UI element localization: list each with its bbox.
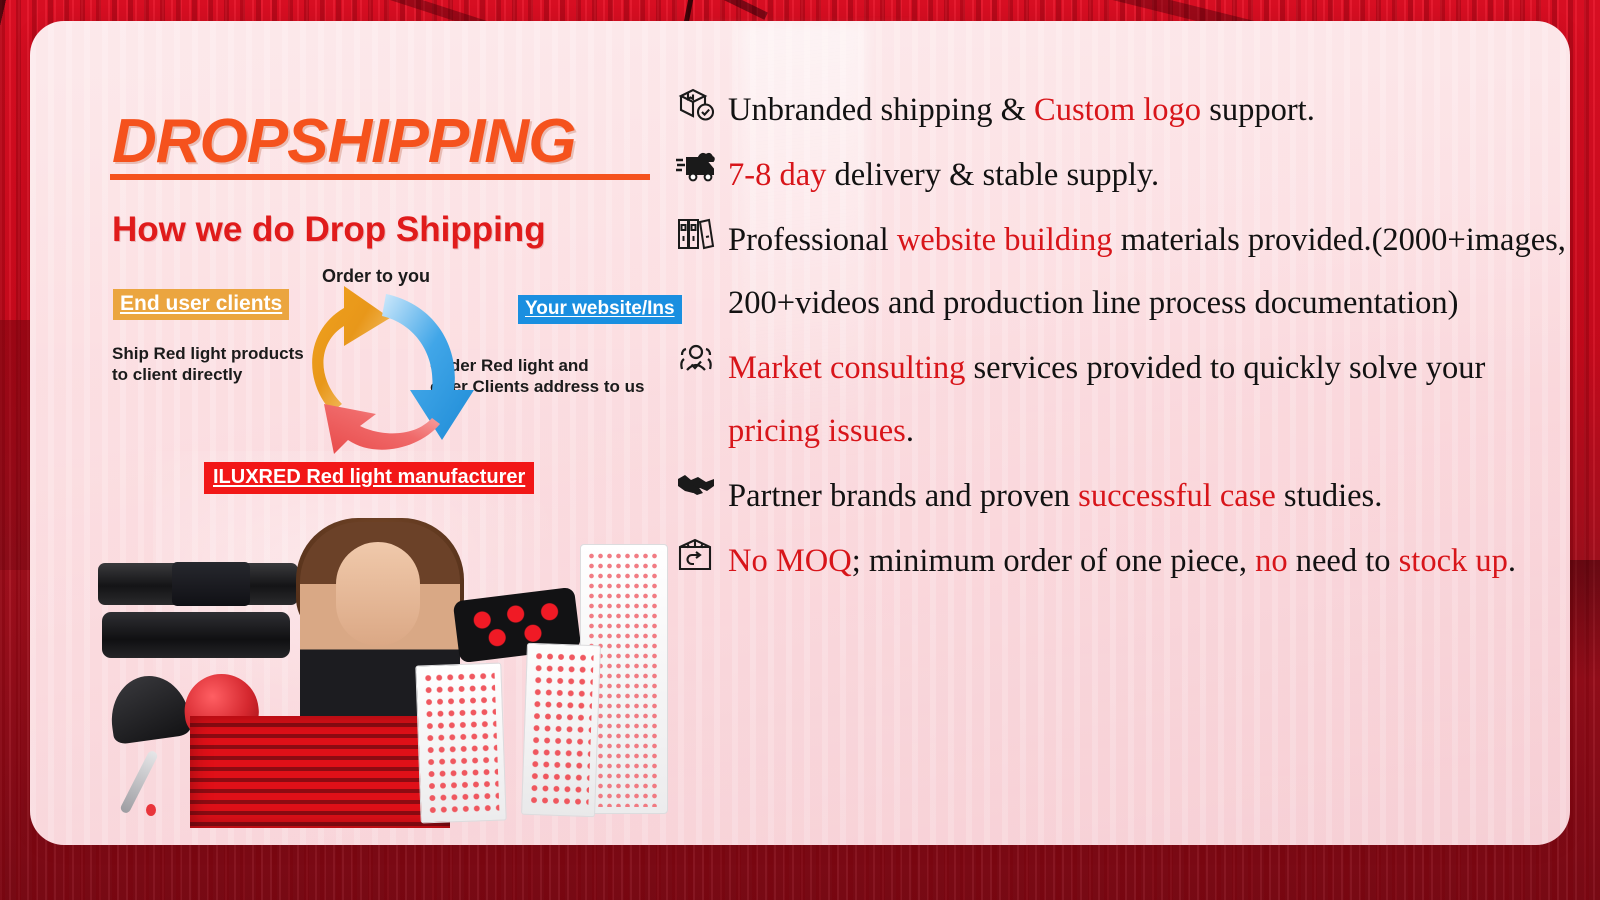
- background-streak: [656, 0, 767, 20]
- benefit-item: Market consulting services provided to q…: [676, 337, 1570, 463]
- benefit-text: Market consulting services provided to q…: [728, 337, 1570, 463]
- red-light-mat-icon: [190, 716, 450, 828]
- dropshipping-flow-diagram: End user clients Your website/Ins ILUXRE…: [82, 266, 682, 511]
- model-face: [336, 542, 420, 646]
- flow-cycle-arrows: [282, 272, 502, 472]
- benefit-text: No MOQ; minimum order of one piece, no n…: [728, 530, 1516, 593]
- benefits-list: Unbranded shipping & Custom logo support…: [676, 79, 1570, 595]
- flow-tag-end-user-label: End user clients: [120, 292, 282, 315]
- return-box-icon: [676, 530, 728, 579]
- benefit-text: 7-8 day delivery & stable supply.: [728, 144, 1159, 207]
- benefit-text: Partner brands and proven successful cas…: [728, 465, 1382, 528]
- red-light-cap-icon: [106, 671, 192, 745]
- product-photo-collage: [88, 516, 678, 828]
- flow-tag-end-user-clients: End user clients: [113, 289, 289, 320]
- benefit-item: No MOQ; minimum order of one piece, no n…: [676, 530, 1570, 593]
- benefit-item: 7-8 day delivery & stable supply.: [676, 144, 1570, 207]
- handshake-icon: [676, 465, 728, 506]
- benefit-item: Partner brands and proven successful cas…: [676, 465, 1570, 528]
- page-subtitle: How we do Drop Shipping: [112, 210, 546, 250]
- red-light-belt-icon: [102, 612, 290, 658]
- page-title: DROPSHIPPING: [112, 106, 575, 177]
- flow-arrow-red-icon: [324, 404, 440, 454]
- benefit-text: Professional website building materials …: [728, 209, 1570, 335]
- led-panel-small: [415, 663, 506, 824]
- title-underline: [110, 174, 650, 180]
- red-light-wand-tip: [146, 804, 156, 816]
- red-light-belt-pad: [172, 562, 250, 606]
- benefit-item: Unbranded shipping & Custom logo support…: [676, 79, 1570, 142]
- led-panel-medium: [521, 643, 601, 817]
- flow-caption-ship-line1: Ship Red light products: [112, 344, 304, 365]
- package-check-icon: [676, 79, 728, 128]
- benefit-text: Unbranded shipping & Custom logo support…: [728, 79, 1315, 142]
- flow-arrow-blue-icon: [382, 294, 474, 440]
- delivery-truck-icon: [676, 144, 728, 189]
- binders-icon: [676, 209, 728, 256]
- flow-caption-ship-line2: to client directly: [112, 365, 304, 386]
- flow-tag-your-website: Your website/Ins: [518, 295, 682, 324]
- flow-tag-your-website-label: Your website/Ins: [525, 298, 675, 319]
- left-column: DROPSHIPPING How we do Drop Shipping End…: [82, 61, 682, 831]
- benefit-item: Professional website building materials …: [676, 209, 1570, 335]
- content-card: DROPSHIPPING How we do Drop Shipping End…: [30, 21, 1570, 845]
- flow-arrow-orange-icon: [312, 286, 390, 412]
- infographic-banner: DROPSHIPPING How we do Drop Shipping End…: [0, 0, 1600, 900]
- people-check-icon: [676, 337, 728, 380]
- flow-caption-ship-to-client: Ship Red light products to client direct…: [112, 344, 304, 385]
